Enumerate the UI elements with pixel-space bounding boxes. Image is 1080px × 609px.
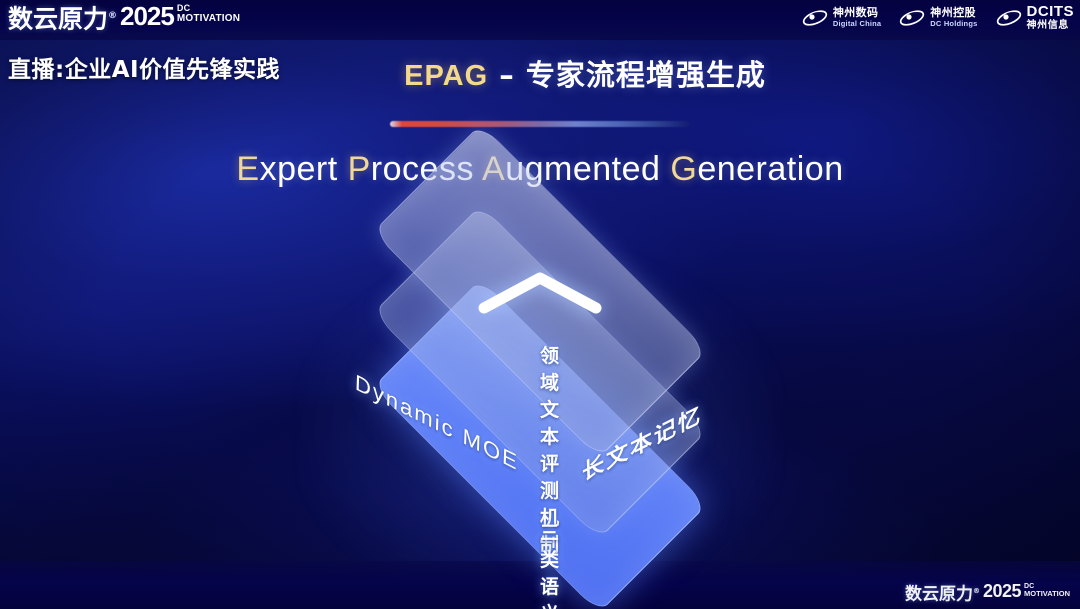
event-logo-dcm: DC MOTIVATION bbox=[177, 4, 240, 24]
event-logo-motivation: MOTIVATION bbox=[177, 13, 240, 24]
swirl-logo-icon bbox=[899, 8, 925, 28]
swirl-logo-icon bbox=[802, 8, 828, 28]
registered-mark-icon: ® bbox=[108, 11, 117, 21]
event-logo-cn: 数云原力® bbox=[8, 2, 117, 33]
brand-dcits: DCITS 神州信息 bbox=[996, 4, 1075, 31]
headline-acronym: EPAG bbox=[404, 60, 488, 92]
acronym-g: G bbox=[670, 150, 697, 188]
footer-watermark: 数云原力® 2025 DC MOTIVATION bbox=[905, 582, 1070, 605]
brand-digital-china-cn: 神州数码 bbox=[833, 7, 881, 18]
headline-divider bbox=[390, 121, 690, 127]
brand-dcits-en: DCITS bbox=[1027, 4, 1075, 19]
acronym-generation: eneration bbox=[697, 150, 843, 188]
acronym-e: E bbox=[236, 150, 259, 188]
watermark-motivation: MOTIVATION bbox=[1024, 590, 1070, 598]
brand-dc-holdings: 神州控股 DC Holdings bbox=[899, 7, 977, 28]
brand-dc-holdings-text: 神州控股 DC Holdings bbox=[930, 7, 977, 28]
swirl-logo-icon bbox=[996, 8, 1022, 28]
slide-headline: EPAG – 专家流程增强生成 bbox=[0, 52, 1080, 94]
headline-chinese: – 专家流程增强生成 bbox=[488, 58, 766, 92]
brand-dc-holdings-en: DC Holdings bbox=[930, 20, 977, 28]
acronym-expert: xpert bbox=[260, 150, 348, 188]
acronym-p: P bbox=[348, 150, 371, 188]
brand-digital-china: 神州数码 Digital China bbox=[802, 7, 881, 28]
brand-dc-holdings-cn: 神州控股 bbox=[930, 7, 977, 18]
watermark-year: 2025 bbox=[983, 582, 1021, 601]
slide-canvas: 数云原力® 2025 DC MOTIVATION 直播:企业AI价值先锋实践 神… bbox=[0, 0, 1080, 609]
event-logo-dc: DC bbox=[177, 4, 240, 13]
watermark-dcm: DC MOTIVATION bbox=[1024, 583, 1070, 598]
event-logo: 数云原力® 2025 DC MOTIVATION bbox=[8, 2, 240, 33]
brand-logo-row: 神州数码 Digital China 神州控股 DC Holdings bbox=[802, 4, 1074, 31]
event-logo-year: 2025 bbox=[120, 2, 174, 30]
watermark-registered-icon: ® bbox=[973, 587, 980, 595]
brand-digital-china-en: Digital China bbox=[833, 20, 881, 28]
brand-dcits-cn: 神州信息 bbox=[1027, 21, 1075, 31]
brand-digital-china-text: 神州数码 Digital China bbox=[833, 7, 881, 28]
brand-dcits-text: DCITS 神州信息 bbox=[1027, 4, 1075, 31]
watermark-cn: 数云原力® bbox=[905, 582, 980, 605]
